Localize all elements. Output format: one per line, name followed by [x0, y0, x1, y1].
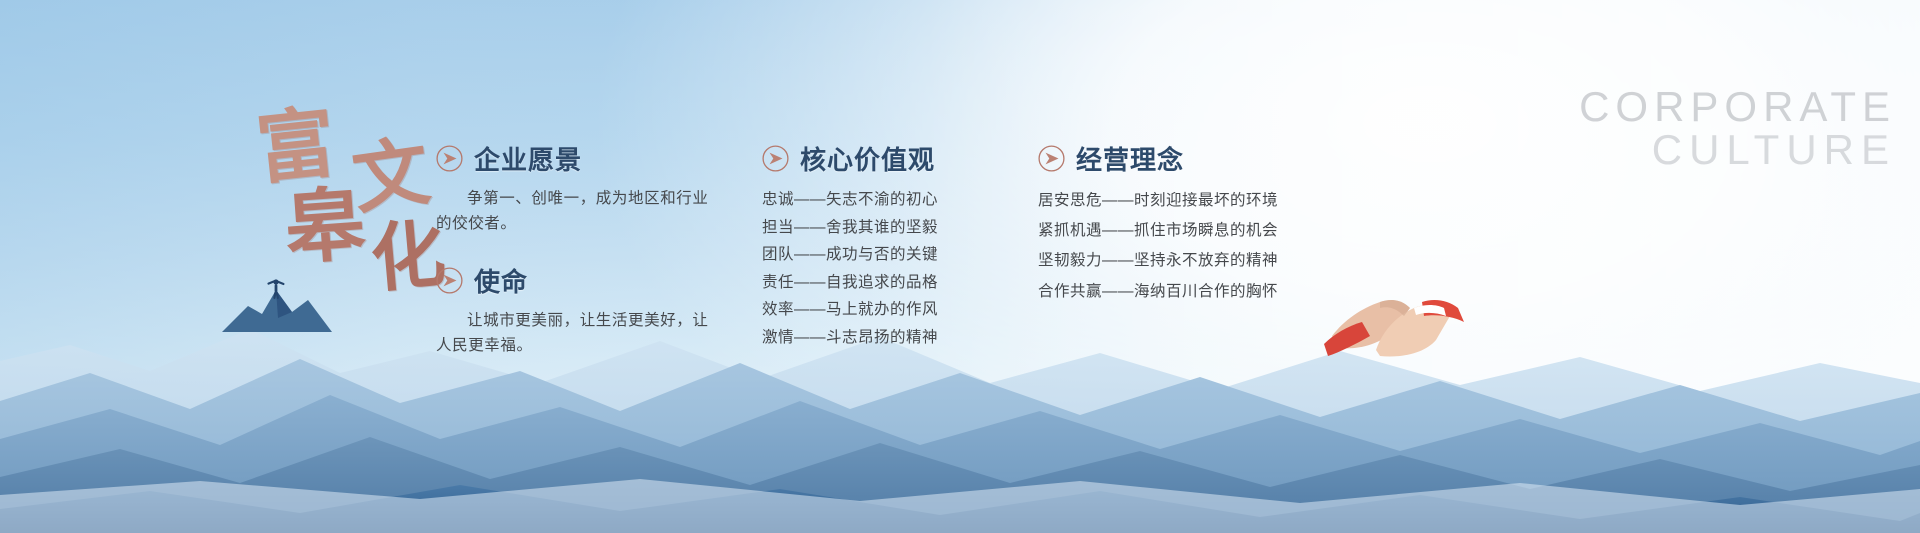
circled-arrow-icon	[762, 145, 789, 172]
list-item: 坚韧毅力——坚持永不放弃的精神	[1038, 246, 1338, 276]
list-item: 担当——舍我其谁的坚毅	[762, 214, 1012, 242]
heading-core-values: 核心价值观	[762, 140, 1012, 177]
list-item: 团队——成功与否的关键	[762, 241, 1012, 269]
heading-text-vision: 企业愿景	[474, 140, 582, 177]
list-item: 效率——马上就办的作风	[762, 296, 1012, 324]
list-item: 紧抓机遇——抓住市场瞬息的机会	[1038, 216, 1338, 246]
list-core-values: 忠诚——矢志不渝的初心 担当——舍我其谁的坚毅 团队——成功与否的关键 责任——…	[762, 186, 1012, 351]
column-core-values: 核心价值观 忠诚——矢志不渝的初心 担当——舍我其谁的坚毅 团队——成功与否的关…	[762, 140, 1012, 351]
circled-arrow-icon	[1038, 145, 1065, 172]
heading-text-business-philosophy: 经营理念	[1076, 140, 1184, 177]
paragraph-mission: 让城市更美丽，让生活更美好，让人民更幸福。	[436, 308, 716, 358]
block-vision: 企业愿景 争第一、创唯一，成为地区和行业的佼佼者。	[436, 140, 716, 236]
list-item: 合作共赢——海纳百川合作的胸怀	[1038, 277, 1338, 307]
heading-text-core-values: 核心价值观	[800, 140, 935, 177]
heading-business-philosophy: 经营理念	[1038, 140, 1338, 177]
block-business-philosophy: 经营理念 居安思危——时刻迎接最坏的环境 紧抓机遇——抓住市场瞬息的机会 坚韧毅…	[1038, 140, 1338, 307]
list-item: 激情——斗志昂扬的精神	[762, 324, 1012, 352]
block-core-values: 核心价值观 忠诚——矢志不渝的初心 担当——舍我其谁的坚毅 团队——成功与否的关…	[762, 140, 1012, 351]
heading-text-mission: 使命	[474, 262, 528, 299]
corporate-culture-banner: CORPORATE CULTURE	[0, 0, 1920, 533]
circled-arrow-icon	[436, 267, 463, 294]
paragraph-vision: 争第一、创唯一，成为地区和行业的佼佼者。	[436, 186, 716, 236]
list-item: 责任——自我追求的品格	[762, 269, 1012, 297]
heading-vision: 企业愿景	[436, 140, 716, 177]
culture-content-columns: 企业愿景 争第一、创唯一，成为地区和行业的佼佼者。 使命 让城市更美丽，让生活更…	[0, 0, 1920, 533]
circled-arrow-icon	[436, 145, 463, 172]
list-business-philosophy: 居安思危——时刻迎接最坏的环境 紧抓机遇——抓住市场瞬息的机会 坚韧毅力——坚持…	[1038, 186, 1338, 307]
block-mission: 使命 让城市更美丽，让生活更美好，让人民更幸福。	[436, 262, 716, 358]
list-item: 居安思危——时刻迎接最坏的环境	[1038, 186, 1338, 216]
list-item: 忠诚——矢志不渝的初心	[762, 186, 1012, 214]
column-business-philosophy: 经营理念 居安思危——时刻迎接最坏的环境 紧抓机遇——抓住市场瞬息的机会 坚韧毅…	[1038, 140, 1338, 307]
heading-mission: 使命	[436, 262, 716, 299]
column-vision-mission: 企业愿景 争第一、创唯一，成为地区和行业的佼佼者。 使命 让城市更美丽，让生活更…	[436, 140, 716, 358]
